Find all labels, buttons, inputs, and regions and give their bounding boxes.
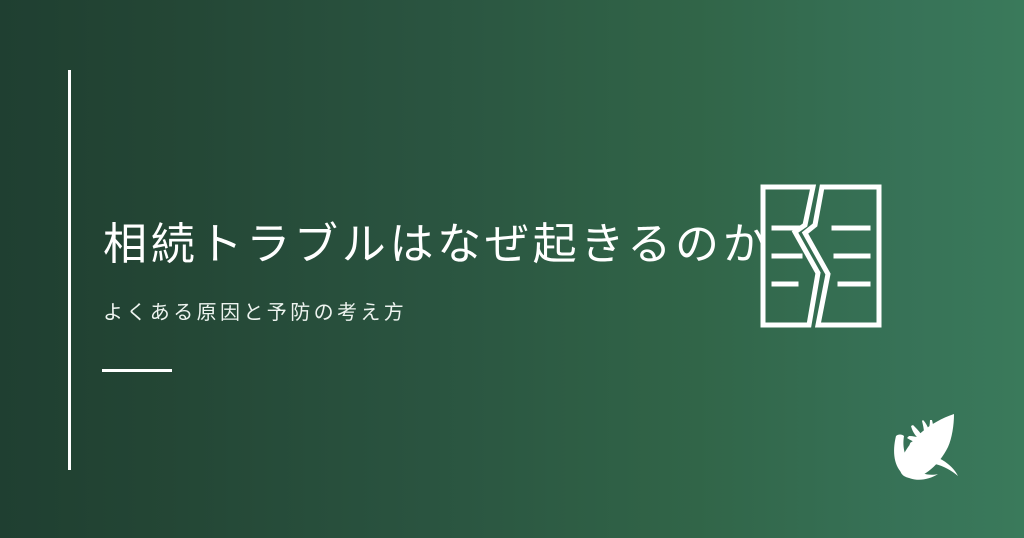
- leaf-logo-icon: [890, 408, 964, 482]
- vertical-accent-rule: [68, 70, 71, 470]
- page-title: 相続トラブルはなぜ起きるのか: [103, 219, 803, 271]
- title-slide: 相続トラブルはなぜ起きるのか よくある原因と予防の考え方: [0, 0, 1024, 538]
- divider-rule: [102, 369, 172, 372]
- page-subtitle: よくある原因と予防の考え方: [103, 299, 407, 327]
- torn-document-icon: [756, 180, 886, 332]
